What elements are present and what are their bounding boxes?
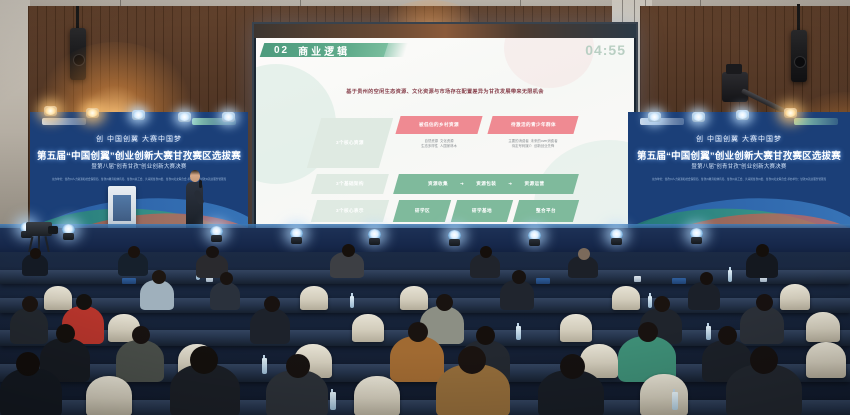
moving-head-light (210, 226, 223, 242)
moving-head-light (690, 228, 703, 244)
truss-light (222, 112, 235, 122)
conference-stage-photo: 02 商业逻辑 04:55 基于贵州的空闲生态资源、文化资源与市场存在配置差异为… (0, 0, 850, 415)
audience-chair (806, 312, 840, 342)
water-bottle (330, 392, 336, 410)
audience-head (76, 294, 92, 310)
audience-chair (400, 286, 428, 310)
audience-person (740, 306, 784, 344)
projection-screen: 02 商业逻辑 04:55 基于贵州的空闲生态资源、文化资源与市场存在配置差异为… (256, 38, 634, 240)
slide-column-chip: 3个核心表示 (311, 200, 389, 222)
backdrop-banner-left: 创 中国创翼 大赛中国梦 第五届“中国创翼”创业创新大赛甘孜赛区选拔赛 暨第八届… (30, 112, 248, 237)
jib-camera-head (722, 72, 748, 102)
audience-chair (86, 376, 132, 415)
audience-head (718, 326, 737, 345)
audience-head (436, 294, 453, 311)
audience-head (700, 272, 713, 285)
tea-cup (634, 276, 641, 282)
audience-chair (640, 374, 688, 415)
audience-head (638, 322, 658, 342)
truss-light (86, 108, 99, 118)
water-bottle (672, 392, 678, 410)
truss-light (132, 110, 145, 120)
slide-flow-step: 资源收集 (428, 181, 448, 187)
audience-person (210, 282, 240, 310)
slide-pink-card-title: 被低估的乡村资源 (395, 116, 482, 134)
screen-top-bar (254, 24, 636, 38)
slide-section-title: 商业逻辑 (298, 43, 350, 58)
audience-head (480, 246, 492, 258)
water-bottle (350, 296, 354, 308)
slide-flow-step: 资源包装 (476, 181, 496, 187)
slide-section-number: 02 (274, 45, 289, 56)
audience-person (500, 280, 534, 310)
slide-column-chip: 3个核心资源 (307, 118, 393, 168)
sponsor-logo (42, 118, 86, 125)
banner-mark: 创 中国创翼 大赛中国梦 (696, 134, 782, 144)
audience-head (220, 272, 233, 285)
backdrop-banner-right: 创 中国创翼 大赛中国梦 第五届“中国创翼”创业创新大赛甘孜赛区选拔赛 暨第八届… (628, 112, 850, 237)
audience-head (512, 270, 526, 284)
audience-person (688, 282, 720, 310)
nameplate (122, 278, 136, 284)
truss-light (692, 112, 705, 122)
moving-head-light (448, 230, 461, 246)
hanging-speaker (70, 28, 86, 80)
audience-person (116, 340, 164, 382)
truss-light (736, 110, 749, 120)
audience-chair (44, 286, 72, 310)
water-bottle (648, 296, 652, 308)
audience-chair (352, 314, 384, 342)
sponsor-logo (640, 118, 684, 125)
audience-head (206, 246, 219, 258)
truss-light (648, 112, 661, 122)
slide-flow-step: 资源运营 (524, 181, 544, 187)
audience-head (342, 244, 355, 257)
audience-head (128, 246, 140, 258)
speaker-mount-rod (76, 6, 79, 28)
audience-head (476, 326, 495, 345)
water-bottle (728, 270, 732, 282)
audience-chair (560, 314, 592, 342)
audience-chair (354, 376, 400, 415)
audience-head (756, 244, 769, 257)
audience-chair (780, 284, 810, 310)
slide-section-header: 02 商业逻辑 (260, 43, 389, 57)
audience-head (756, 294, 773, 311)
slide-pink-card-items: 主要的消费者 未来的over消费者 待定号码媒介 创新创业先锋 (488, 139, 578, 149)
banner-subtitle: 暨第八届“创青甘孜”创业创新大赛决赛 (691, 162, 786, 170)
arrow-icon: ➜ (460, 181, 464, 187)
audience-head (30, 248, 41, 259)
water-bottle (706, 326, 711, 340)
moving-head-light (610, 229, 623, 245)
nameplate (536, 278, 550, 284)
audience-head (190, 346, 218, 374)
water-bottle (262, 358, 267, 374)
banner-fine-print: 主办单位：甘孜州人力资源和社会保障局、甘孜州教育和体育局、甘孜州总工会、共青团甘… (644, 178, 835, 182)
audience-person (250, 308, 290, 344)
audience-chair (300, 286, 328, 310)
arrow-icon: ➜ (508, 181, 512, 187)
slide-pink-card-title: 待激活的青少年群体 (487, 116, 578, 134)
slide-lead-text: 基于贵州的空闲生态资源、文化资源与市场存在配置差异为甘孜发展带来无限机会 (256, 88, 634, 95)
moving-head-light (290, 228, 303, 244)
audience-head (16, 352, 40, 376)
audience-head (264, 296, 280, 312)
audience-head (458, 346, 486, 374)
audience-chair (806, 342, 846, 378)
left-wall (0, 0, 30, 240)
speaker-mount-rod (797, 4, 800, 30)
audience-head (750, 346, 778, 374)
audience-hall (0, 252, 850, 415)
slide-decor-blob (504, 38, 594, 88)
audience-head (286, 354, 310, 378)
banner-subtitle: 暨第八届“创青甘孜”创业创新大赛决赛 (91, 162, 186, 170)
slide-platform-chip: 研学基地 (451, 200, 513, 222)
countdown-timer: 04:55 (585, 42, 626, 58)
banner-fine-print: 主办单位：甘孜州人力资源和社会保障局、甘孜州教育和体育局、甘孜州总工会、共青团甘… (45, 178, 232, 182)
projection-screen-frame: 02 商业逻辑 04:55 基于贵州的空闲生态资源、文化资源与市场存在配置差异为… (252, 22, 638, 244)
moving-head-light (368, 229, 381, 245)
partner-logo (794, 118, 838, 125)
audience-head (654, 296, 670, 312)
audience-head (132, 326, 150, 344)
camera-lens (48, 226, 58, 234)
banner-title: 第五届“中国创翼”创业创新大赛甘孜赛区选拔赛 (637, 148, 841, 162)
slide-column-chip: 3个基础架构 (311, 174, 389, 194)
slide-pink-card-items: 自然资源 文化资源 生态多样性 人国家林木 (398, 139, 480, 149)
audience-head (578, 248, 590, 260)
audience-head (560, 354, 585, 379)
slide-platform-chip: 研学区 (393, 200, 451, 222)
audience-head (408, 322, 428, 342)
audience-person (140, 280, 174, 310)
truss-light (784, 108, 797, 118)
banner-mark: 创 中国创翼 大赛中国梦 (96, 134, 182, 144)
slide-flow-strip: 资源收集 ➜ 资源包装 ➜ 资源运营 (393, 174, 579, 194)
audience-head (22, 296, 38, 312)
audience-person (10, 308, 48, 344)
slide-header-tail (382, 43, 409, 57)
banner-title: 第五届“中国创翼”创业创新大赛甘孜赛区选拔赛 (37, 148, 241, 162)
moving-head-light (528, 230, 541, 246)
moving-head-light (62, 224, 75, 240)
audience-head (56, 324, 75, 343)
audience-head (152, 270, 166, 284)
audience-person (390, 336, 444, 382)
truss-light (178, 112, 191, 122)
hanging-speaker (791, 30, 807, 82)
nameplate (672, 278, 686, 284)
microphone (199, 180, 202, 188)
slide-platform-chip: 整合平台 (513, 200, 579, 222)
truss-light (44, 106, 57, 116)
water-bottle (516, 326, 521, 340)
audience-chair (612, 286, 640, 310)
